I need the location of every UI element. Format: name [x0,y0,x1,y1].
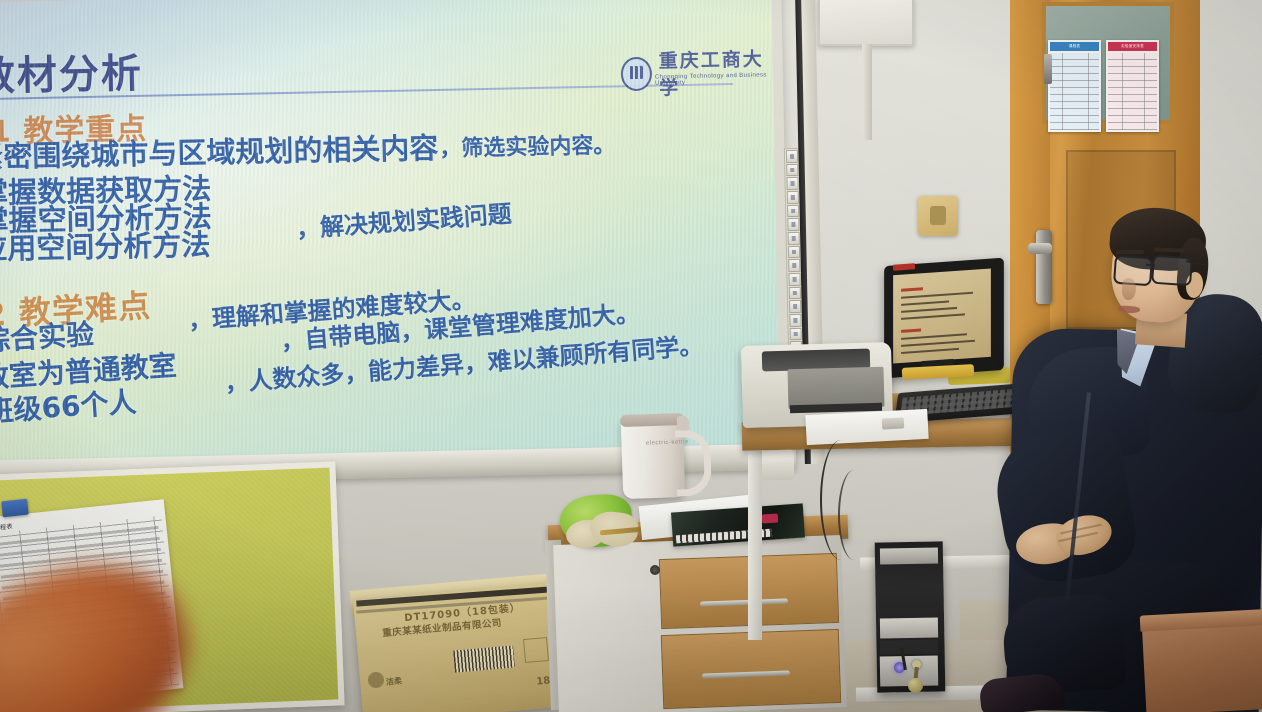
tower-vent [880,639,938,654]
notice-left-col1 [1062,53,1063,130]
university-seal-icon [621,57,653,92]
slide-bullet-4: 应用空间分析方法 [0,222,211,269]
door-hinge [1044,54,1052,84]
whiteboard-tool-select-icon[interactable] [786,150,798,163]
data-cable [838,470,870,560]
desk-leg-left [748,440,762,640]
monitor-heading-2 [901,328,921,332]
notice-left-header: 课程表 [1050,42,1099,51]
wall-conduit [862,44,872,140]
monitor-heading-1 [901,287,923,292]
classroom-photo: 课程表 实验室安排表 教材分析 重庆工商大学 Chongqing Technol… [0,0,1262,712]
cabinet-knob[interactable] [650,565,660,575]
whiteboard-tool-redo-icon[interactable] [788,273,800,286]
notice-right-rows [1108,53,1157,130]
notice-left-col2 [1088,53,1089,130]
electrical-breaker-box [818,0,914,46]
monitor-line-2 [901,300,949,305]
projection-screen-frame: 教材分析 重庆工商大学 Chongqing Technology and Bus… [0,0,791,476]
whiteboard-tool-highlight-icon[interactable] [786,177,798,190]
binder-clip [1,499,29,518]
notice-left-title: 课程表 [1050,42,1099,51]
whiteboard-tool-eraser-icon[interactable] [787,191,799,204]
kettle-lid[interactable] [620,413,684,427]
projection-screen: 教材分析 重庆工商大学 Chongqing Technology and Bus… [0,0,780,464]
notice-right-col2 [1144,53,1145,130]
tower-front-panel-upper [880,617,938,638]
printer-paper-stack [805,409,928,445]
tower-drive-bay[interactable] [880,547,938,564]
notice-right-title: 实验室安排表 [1108,42,1157,51]
whiteboard-tool-line-icon[interactable] [787,205,799,218]
box-brand: 洁柔 [386,675,403,687]
whiteboard-tool-capture-icon[interactable] [789,300,801,313]
eyeglasses-bridge [1146,264,1155,267]
notice-right-header: 实验室安排表 [1108,42,1157,51]
box-handling-mark-icon [523,637,549,663]
whiteboard-tool-text-icon[interactable] [788,246,800,259]
whiteboard-tool-spotlight-icon[interactable] [789,287,801,300]
whiteboard-tool-pen-icon[interactable] [786,164,798,177]
door-notice-right: 实验室安排表 [1106,40,1159,132]
kettle-spout [677,416,689,430]
notice-left-rows [1050,53,1099,130]
slide-bullet-4-tail: ，解决规划实践问题 [295,194,513,245]
whiteboard-tool-shape-icon[interactable] [787,218,799,231]
slide-bullet-1-tail: ，筛选实验内容。 [439,127,616,163]
key-fob [908,678,923,693]
projection-screen-roller-cap [760,450,795,481]
monitor-line-3 [901,307,957,313]
university-name-english: Chongqing Technology and Business Univer… [655,72,773,86]
cabinet-drawer-lower[interactable] [661,629,841,709]
eyebrow-left [1116,250,1144,254]
slide-title: 教材分析 [0,41,143,102]
slide-difficulty-3: 班级66个人 [0,380,138,430]
whiteboard-tool-save-icon[interactable] [790,328,802,341]
whiteboard-tool-page-icon[interactable] [789,314,801,327]
whiteboard-tool-arrow-icon[interactable] [788,232,800,245]
eraser [882,417,905,429]
socket-outlet-hole [930,206,946,225]
door-notice-left: 课程表 [1048,40,1101,132]
notice-right-col1 [1122,53,1123,130]
package-red-label [762,513,779,523]
whiteboard-tool-undo-icon[interactable] [788,259,800,272]
